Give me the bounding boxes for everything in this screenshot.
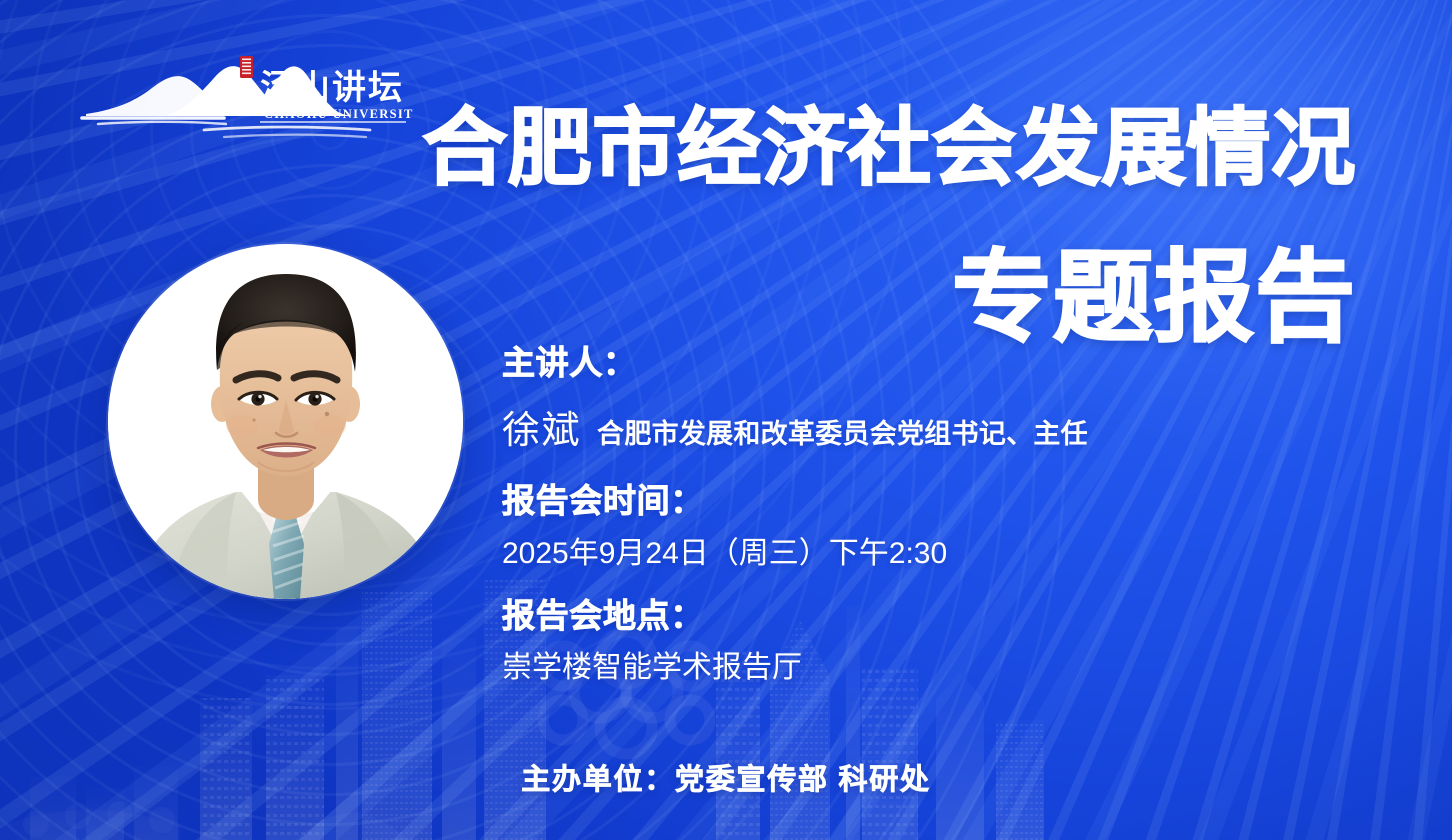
speaker-job-title: 合肥市发展和改革委员会党组书记、主任 [597, 412, 1088, 451]
logo-chinese-text: 汤山讲坛 [260, 68, 404, 108]
event-details: 主讲人： 徐斌 合肥市发展和改革委员会党组书记、主任 报告会时间： 2025年9… [502, 342, 1262, 687]
venue-label: 报告会地点： [502, 595, 1262, 636]
time-label: 报告会时间： [502, 480, 1262, 521]
poster-title-line-2: 专题报告 [423, 246, 1356, 351]
poster-title: 合肥市经济社会发展情况 专题报告 [423, 104, 1356, 351]
red-seal-icon [240, 56, 253, 78]
poster-title-line-1: 合肥市经济社会发展情况 [423, 104, 1356, 192]
organizer-text: 主办单位：党委宣传部 科研处 [521, 756, 930, 798]
university-logo: 汤山讲坛 CHAOHU UNIVERSITY [74, 52, 414, 144]
speaker-label: 主讲人： [502, 342, 1262, 383]
speaker-portrait-photo [108, 244, 463, 599]
poster-canvas: 汤山讲坛 CHAOHU UNIVERSITY [0, 0, 1452, 840]
speaker-name: 徐斌 [502, 399, 581, 454]
poster-footer: 主办单位：党委宣传部 科研处 [0, 756, 1452, 798]
venue-value: 崇学楼智能学术报告厅 [502, 648, 1262, 687]
time-value: 2025年9月24日（周三）下午2:30 [502, 534, 1262, 573]
speaker-row: 徐斌 合肥市发展和改革委员会党组书记、主任 [502, 399, 1262, 454]
logo-english-text: CHAOHU UNIVERSITY [264, 107, 414, 121]
